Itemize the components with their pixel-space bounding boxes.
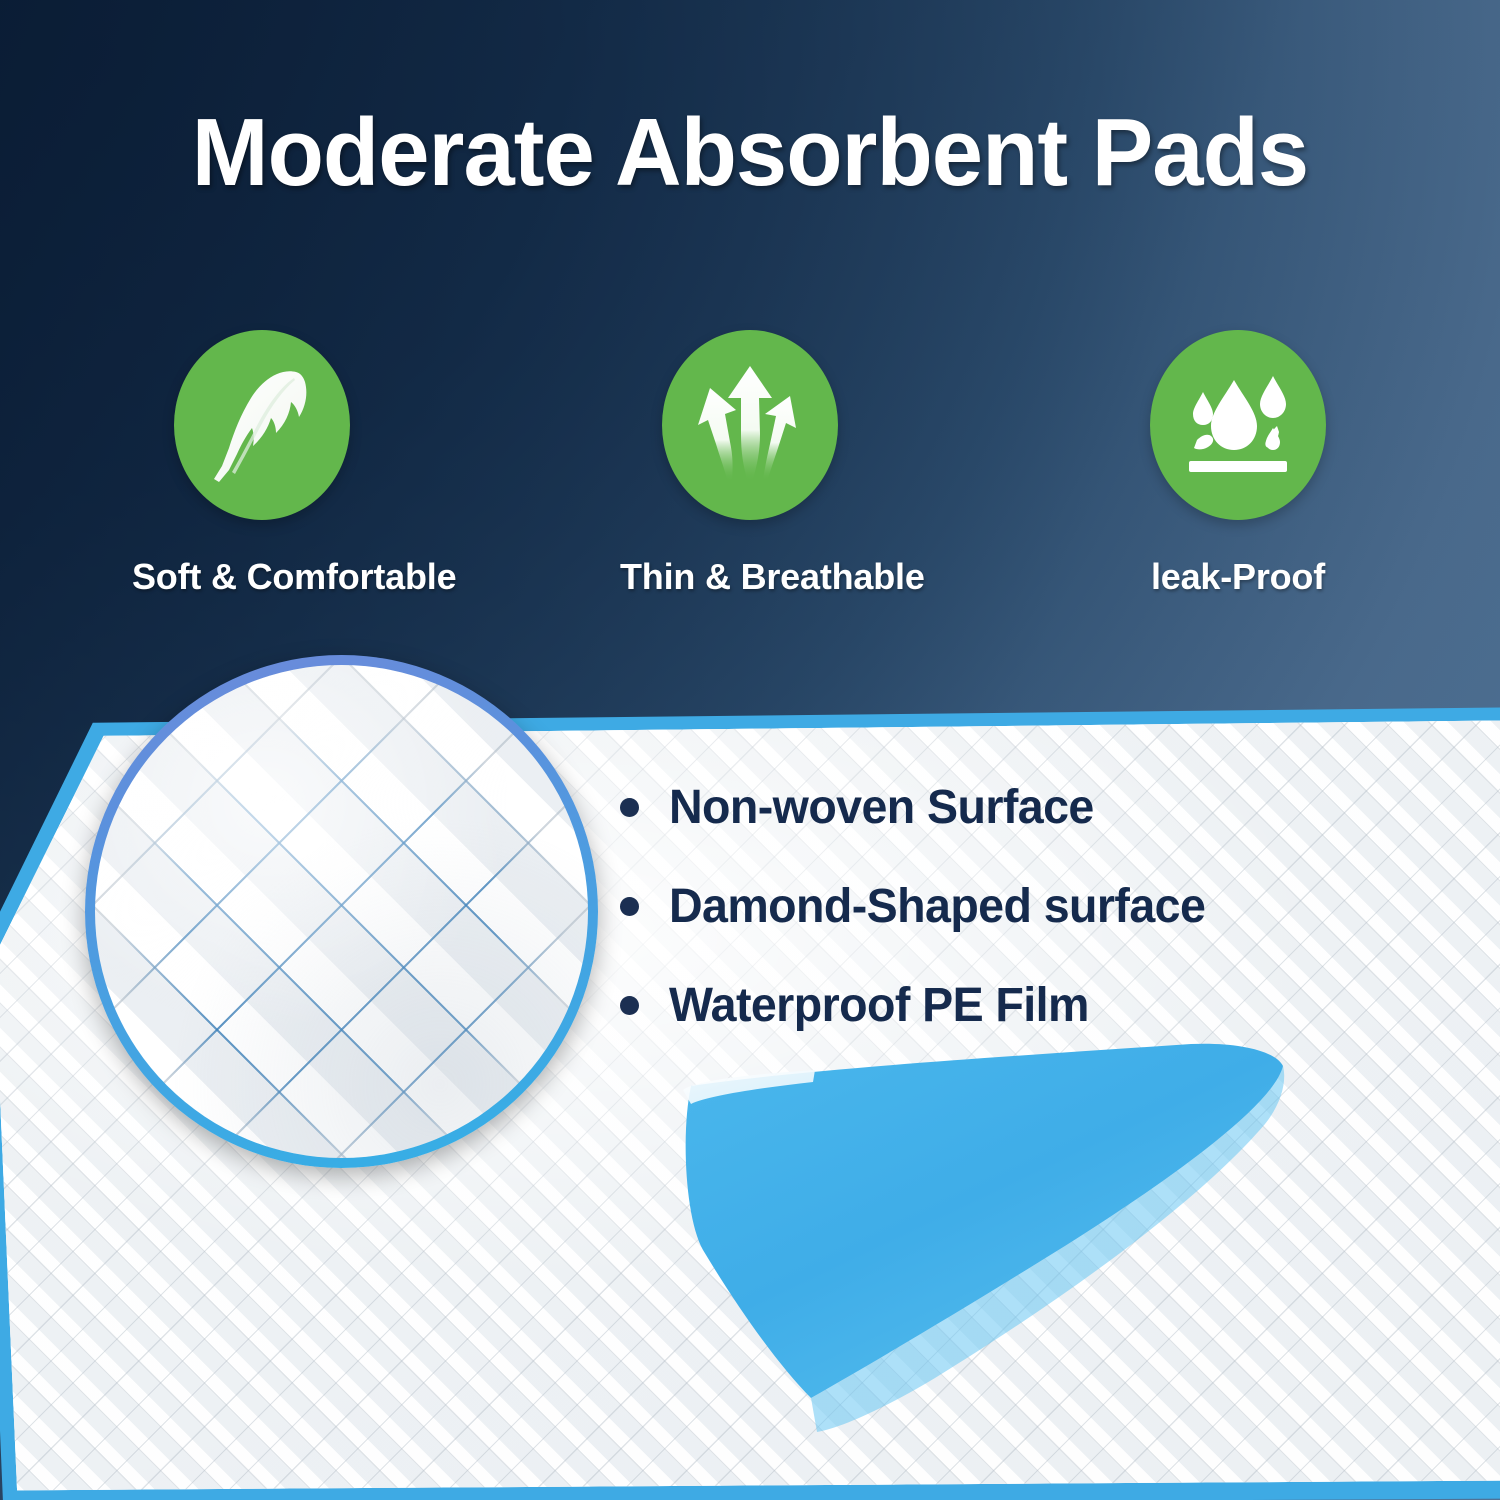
feature-list: Soft & Comfortable: [0, 330, 1500, 598]
page-title: Moderate Absorbent Pads: [30, 104, 1470, 202]
feature-badge-soft: [174, 330, 350, 520]
feature-label-breathable: Thin & Breathable: [620, 556, 880, 598]
bullet-dot-icon: [620, 897, 639, 916]
water-drops-icon: [1177, 370, 1299, 480]
bullet-item: Damond-Shaped surface: [620, 879, 1410, 934]
magnifier-shading: [95, 665, 588, 1158]
up-arrows-icon: [686, 364, 814, 486]
bullet-label: Non-woven Surface: [669, 780, 1094, 835]
magnifier-texture: [95, 665, 588, 1158]
bullet-item: Non-woven Surface: [620, 780, 1410, 835]
feature-badge-breathable: [662, 330, 838, 520]
bullet-dot-icon: [620, 996, 639, 1015]
bullet-item: Waterproof PE Film: [620, 978, 1410, 1033]
feature-badge-leakproof: [1150, 330, 1326, 520]
feature-label-soft: Soft & Comfortable: [132, 556, 392, 598]
bullet-dot-icon: [620, 798, 639, 817]
feature-item-breathable: Thin & Breathable: [620, 330, 880, 598]
feature-label-leakproof: leak-Proof: [1108, 556, 1368, 598]
bullet-label: Damond-Shaped surface: [669, 879, 1205, 934]
feather-icon: [210, 366, 314, 484]
magnifier-circle: [85, 655, 598, 1168]
feature-item-soft: Soft & Comfortable: [132, 330, 392, 598]
product-infographic: Moderate Absorbent Pads: [0, 0, 1500, 1500]
feature-item-leakproof: leak-Proof: [1108, 330, 1368, 598]
peeled-pe-film-corner: [635, 1060, 1335, 1480]
bullet-label: Waterproof PE Film: [669, 978, 1089, 1033]
feature-bullet-list: Non-woven Surface Damond-Shaped surface …: [620, 780, 1410, 1077]
